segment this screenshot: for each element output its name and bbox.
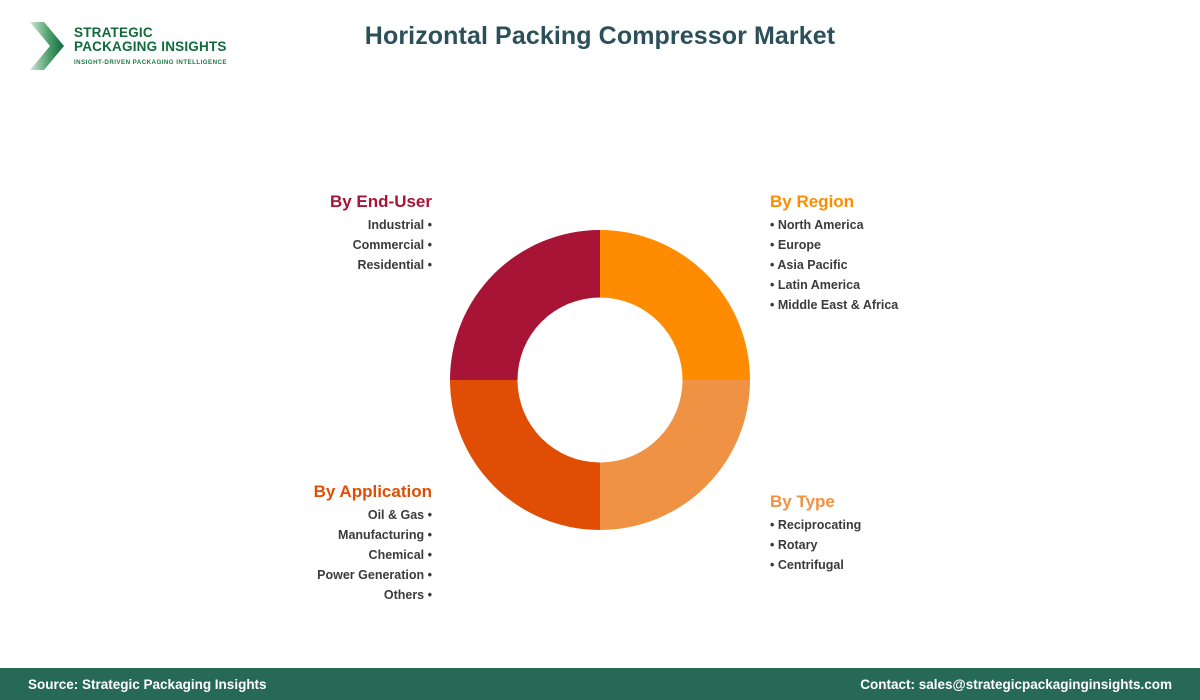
segment-list-enduser: Industrial • Commercial • Residential •: [196, 215, 432, 275]
donut-slice-type: [600, 380, 750, 530]
donut-chart: [450, 230, 750, 530]
segment-block-application: By Application Oil & Gas • Manufacturing…: [176, 482, 432, 605]
segment-list-application: Oil & Gas • Manufacturing • Chemical • P…: [176, 505, 432, 605]
infographic-page: STRATEGIC PACKAGING INSIGHTS INSIGHT-DRI…: [0, 0, 1200, 700]
footer-source: Source: Strategic Packaging Insights: [28, 677, 267, 692]
footer-contact: Contact: sales@strategicpackaginginsight…: [860, 677, 1172, 692]
page-title: Horizontal Packing Compressor Market: [0, 22, 1200, 51]
list-item: • Middle East & Africa: [770, 295, 1030, 315]
list-item: • North America: [770, 215, 1030, 235]
list-item: • Europe: [770, 235, 1030, 255]
list-item: • Centrifugal: [770, 555, 1030, 575]
segment-block-type: By Type • Reciprocating • Rotary • Centr…: [770, 492, 1030, 575]
donut-chart-svg: [450, 230, 750, 530]
list-item: Oil & Gas •: [176, 505, 432, 525]
list-item: • Reciprocating: [770, 515, 1030, 535]
list-item: Residential •: [196, 255, 432, 275]
segment-title-type: By Type: [770, 492, 1030, 512]
segment-title-enduser: By End-User: [196, 192, 432, 212]
donut-slice-enduser: [450, 230, 600, 380]
donut-slice-region: [600, 230, 750, 380]
logo-tagline: INSIGHT-DRIVEN PACKAGING INTELLIGENCE: [74, 59, 227, 66]
list-item: Others •: [176, 585, 432, 605]
segment-block-enduser: By End-User Industrial • Commercial • Re…: [196, 192, 432, 275]
segment-title-application: By Application: [176, 482, 432, 502]
list-item: Manufacturing •: [176, 525, 432, 545]
list-item: • Latin America: [770, 275, 1030, 295]
list-item: Chemical •: [176, 545, 432, 565]
segment-block-region: By Region • North America • Europe • Asi…: [770, 192, 1030, 315]
footer-bar: Source: Strategic Packaging Insights Con…: [0, 668, 1200, 700]
list-item: Power Generation •: [176, 565, 432, 585]
segment-list-region: • North America • Europe • Asia Pacific …: [770, 215, 1030, 315]
segment-list-type: • Reciprocating • Rotary • Centrifugal: [770, 515, 1030, 575]
donut-slice-application: [450, 380, 600, 530]
list-item: • Asia Pacific: [770, 255, 1030, 275]
segment-title-region: By Region: [770, 192, 1030, 212]
list-item: Industrial •: [196, 215, 432, 235]
list-item: • Rotary: [770, 535, 1030, 555]
list-item: Commercial •: [196, 235, 432, 255]
